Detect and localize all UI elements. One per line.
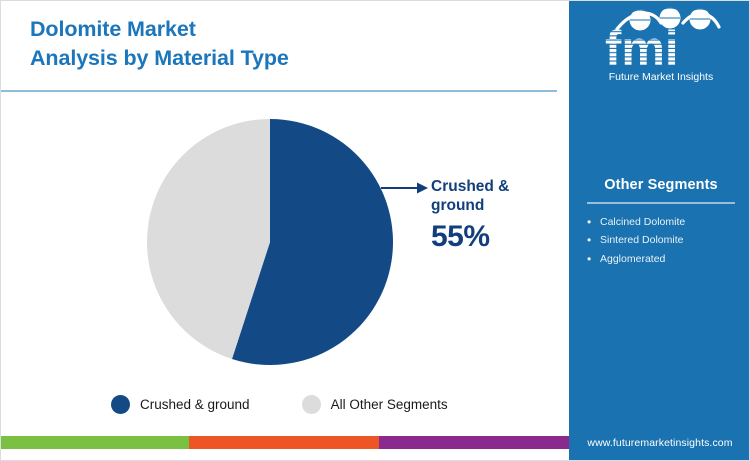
infographic-card: Dolomite Market Analysis by Material Typ… bbox=[0, 0, 750, 461]
fmi-wordmark: fmi bbox=[605, 22, 679, 76]
color-bar-segment-green bbox=[1, 436, 189, 449]
other-segments-list: Calcined Dolomite Sintered Dolomite Aggl… bbox=[583, 213, 739, 269]
callout-percent: 55% bbox=[431, 218, 561, 255]
chart-legend: Crushed & ground All Other Segments bbox=[111, 395, 448, 414]
fmi-tagline: Future Market Insights bbox=[609, 71, 713, 83]
list-item: Agglomerated bbox=[583, 250, 739, 269]
callout-category: Crushed & ground bbox=[431, 177, 561, 215]
list-item: Calcined Dolomite bbox=[583, 213, 739, 232]
bottom-color-bar bbox=[1, 436, 569, 449]
arrow-right-icon bbox=[381, 179, 429, 197]
title-divider bbox=[1, 90, 557, 92]
list-item: Sintered Dolomite bbox=[583, 231, 739, 250]
other-segments-divider bbox=[587, 202, 735, 204]
other-segments-title: Other Segments bbox=[583, 177, 739, 193]
sidebar: fmi Future Market Insights Other Segment… bbox=[569, 1, 750, 461]
legend-item-all-other-segments[interactable]: All Other Segments bbox=[302, 395, 448, 414]
site-url[interactable]: www.futuremarketinsights.com bbox=[569, 437, 750, 449]
page-title: Dolomite Market Analysis by Material Typ… bbox=[30, 15, 530, 73]
legend-label: Crushed & ground bbox=[140, 397, 250, 412]
chart-panel: Dolomite Market Analysis by Material Typ… bbox=[1, 1, 569, 449]
legend-dot-icon bbox=[302, 395, 321, 414]
globe-icon bbox=[686, 9, 714, 31]
legend-dot-icon bbox=[111, 395, 130, 414]
pie-chart-svg bbox=[147, 119, 393, 365]
pie-chart bbox=[147, 119, 393, 365]
callout-label: Crushed & ground 55% bbox=[431, 177, 561, 256]
legend-item-crushed-and-ground[interactable]: Crushed & ground bbox=[111, 395, 250, 414]
legend-label: All Other Segments bbox=[331, 397, 448, 412]
color-bar-segment-purple bbox=[379, 436, 569, 449]
color-bar-segment-orange bbox=[189, 436, 379, 449]
page-title-line-1: Dolomite Market bbox=[30, 15, 530, 44]
fmi-logo[interactable]: fmi Future Market Insights bbox=[587, 7, 735, 85]
other-segments-block: Other Segments Calcined Dolomite Sintere… bbox=[583, 177, 739, 269]
page-title-line-2: Analysis by Material Type bbox=[30, 44, 530, 73]
